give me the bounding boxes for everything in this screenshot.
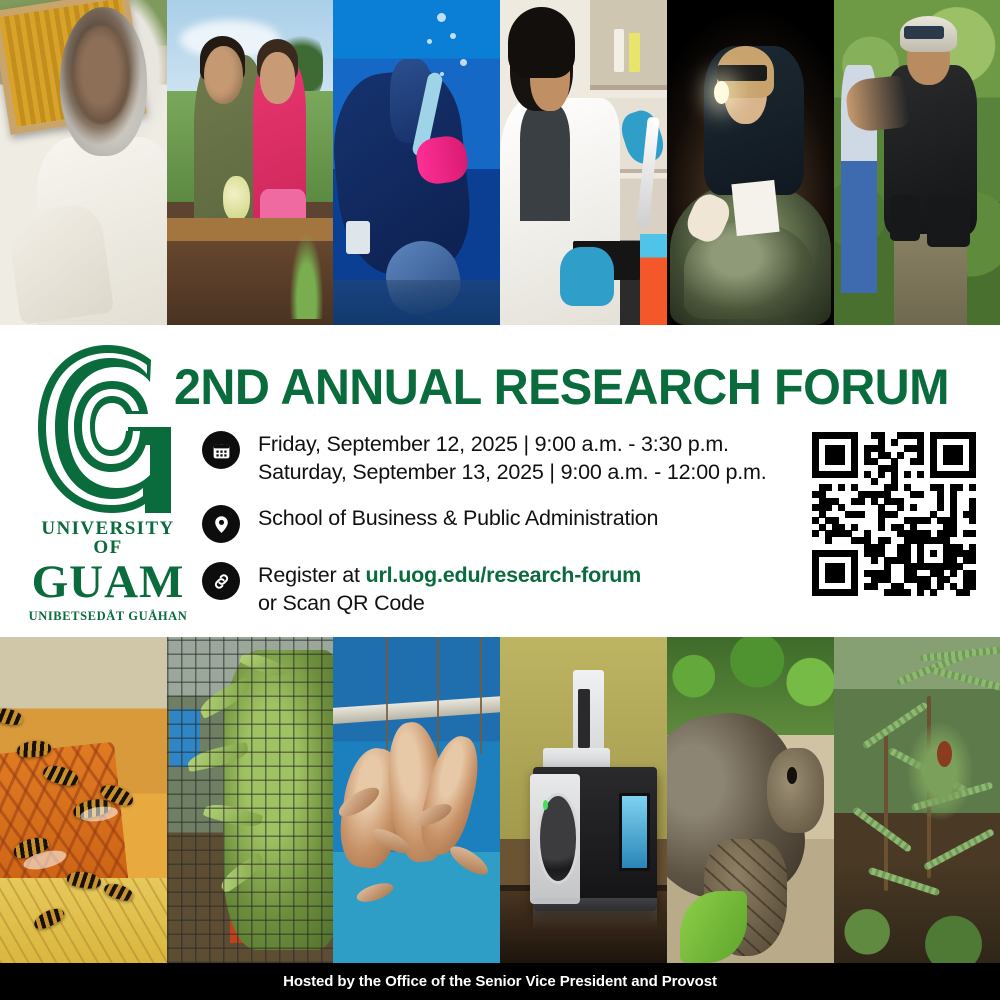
register-line: Register at url.uog.edu/research-forum (258, 562, 641, 590)
photo-scuba-diver (333, 0, 500, 325)
photo-plant-enclosure (167, 637, 333, 963)
date-line-saturday: Saturday, September 13, 2025 | 9:00 a.m.… (258, 459, 767, 487)
register-prefix: Register at (258, 563, 366, 587)
register-url-link[interactable]: url.uog.edu/research-forum (366, 563, 642, 587)
location-pin-icon (202, 505, 240, 543)
footer-bar: Hosted by the Office of the Senior Vice … (0, 963, 1000, 1000)
scan-qr-text: or Scan QR Code (258, 590, 641, 618)
qr-code[interactable] (812, 432, 976, 596)
photo-strip-bottom (0, 637, 1000, 963)
photo-turtle-tagging-night (667, 0, 834, 325)
poster-root: UNIVERSITY OF GUAM UNIBETSEDÅT GUÅHAN 2N… (0, 0, 1000, 1000)
photo-field-researcher (834, 0, 1000, 325)
detail-row-dates: Friday, September 12, 2025 | 9:00 a.m. -… (202, 429, 842, 486)
photo-lab-pipetting (500, 0, 667, 325)
logo-line-university-of: UNIVERSITY OF (28, 519, 188, 557)
logo-line-chamorro: UNIBETSEDÅT GUÅHAN (28, 610, 188, 623)
event-details: Friday, September 12, 2025 | 9:00 a.m. -… (202, 429, 842, 634)
photo-beekeeper (0, 0, 167, 325)
logo-line-guam: GUAM (28, 559, 188, 607)
photo-coral-nursery (333, 637, 500, 963)
uog-logo: UNIVERSITY OF GUAM UNIBETSEDÅT GUÅHAN (28, 343, 188, 603)
page-title: 2ND ANNUAL RESEARCH FORUM (174, 358, 949, 416)
uog-g-monogram-icon (34, 343, 184, 515)
calendar-icon (202, 431, 240, 469)
photo-community-garden (167, 0, 333, 325)
photo-strip-top (0, 0, 1000, 325)
link-icon (202, 562, 240, 600)
detail-row-location: School of Business & Public Administrati… (202, 503, 842, 543)
detail-row-register: Register at url.uog.edu/research-forum o… (202, 560, 842, 617)
photo-sea-turtle (667, 637, 834, 963)
photo-lab-instrument (500, 637, 667, 963)
location-text: School of Business & Public Administrati… (258, 505, 658, 533)
footer-text: Hosted by the Office of the Senior Vice … (283, 973, 717, 990)
photo-cycad-forest (834, 637, 1000, 963)
photo-honeybees (0, 637, 167, 963)
date-line-friday: Friday, September 12, 2025 | 9:00 a.m. -… (258, 431, 767, 459)
